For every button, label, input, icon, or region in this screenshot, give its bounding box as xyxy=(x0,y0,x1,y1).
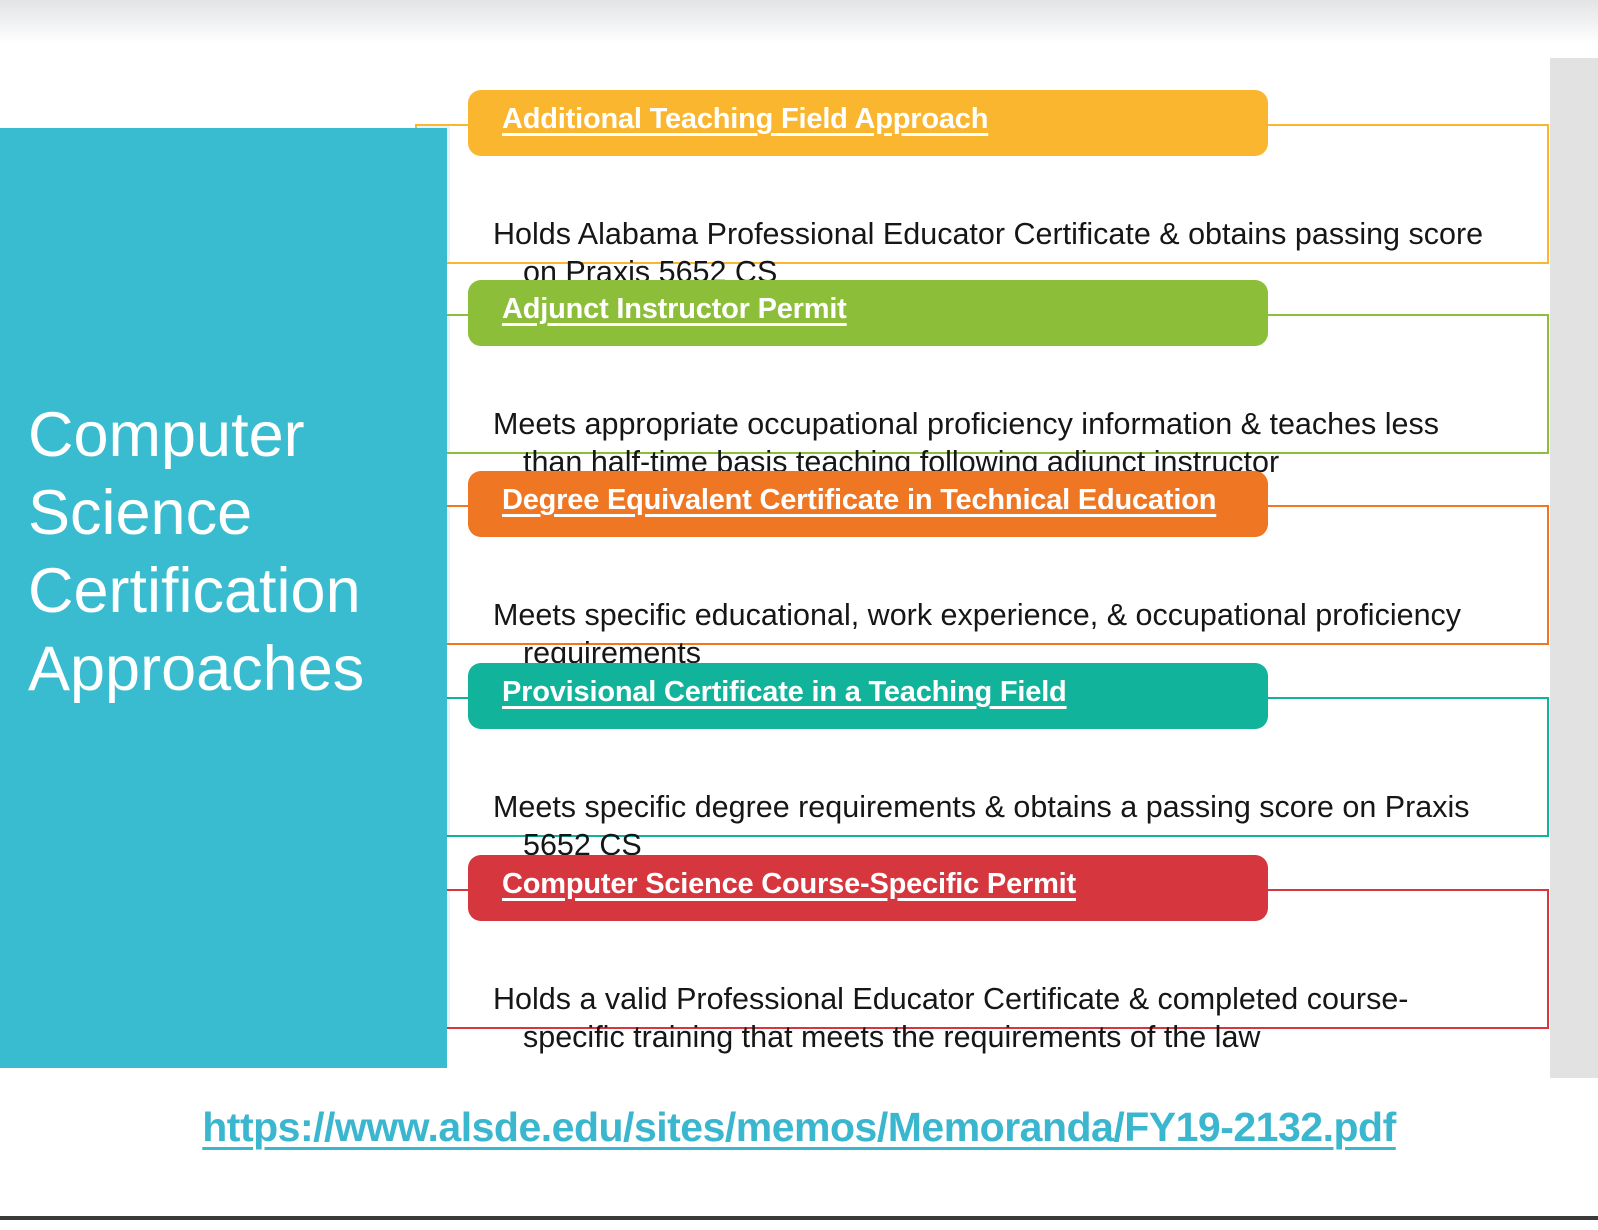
approach-row: Provisional Certificate in a Teaching Fi… xyxy=(415,697,1549,837)
viewer-bottom-rule xyxy=(0,1216,1598,1220)
approach-header-label: Additional Teaching Field Approach xyxy=(502,103,988,136)
approach-header-pill[interactable]: Additional Teaching Field Approach xyxy=(468,90,1268,156)
approach-description: Meets specific degree requirements & obt… xyxy=(493,789,1489,864)
approach-description: Holds a valid Professional Educator Cert… xyxy=(493,981,1489,1056)
approach-description-line: Meets appropriate occupational proficien… xyxy=(493,406,1489,444)
approach-description-line: Holds a valid Professional Educator Cert… xyxy=(493,981,1489,1019)
approach-header-pill[interactable]: Provisional Certificate in a Teaching Fi… xyxy=(468,663,1268,729)
approach-row: Additional Teaching Field ApproachHolds … xyxy=(415,124,1549,264)
approach-description: Meets appropriate occupational proficien… xyxy=(493,406,1489,481)
approach-header-label: Computer Science Course-Specific Permit xyxy=(502,868,1076,901)
slide-right-gutter xyxy=(1550,58,1598,1078)
slide-canvas: Computer Science Certification Approache… xyxy=(0,0,1598,1230)
approach-header-pill[interactable]: Degree Equivalent Certificate in Technic… xyxy=(468,471,1268,537)
approach-row: Computer Science Course-Specific PermitH… xyxy=(415,889,1549,1029)
page-title: Computer Science Certification Approache… xyxy=(28,396,428,708)
title-panel: Computer Science Certification Approache… xyxy=(0,128,447,1068)
approach-description-line: specific training that meets the require… xyxy=(493,1019,1489,1057)
approach-header-label: Degree Equivalent Certificate in Technic… xyxy=(502,484,1216,517)
approach-row: Degree Equivalent Certificate in Technic… xyxy=(415,505,1549,645)
viewer-top-shade xyxy=(0,0,1598,44)
approach-header-pill[interactable]: Computer Science Course-Specific Permit xyxy=(468,855,1268,921)
approach-description-line: Meets specific degree requirements & obt… xyxy=(493,789,1489,827)
source-link-wrap: https://www.alsde.edu/sites/memos/Memora… xyxy=(0,1104,1598,1151)
approach-description-line: Meets specific educational, work experie… xyxy=(493,597,1489,635)
source-url-link[interactable]: https://www.alsde.edu/sites/memos/Memora… xyxy=(202,1104,1395,1150)
approach-header-pill[interactable]: Adjunct Instructor Permit xyxy=(468,280,1268,346)
approach-header-label: Adjunct Instructor Permit xyxy=(502,293,847,326)
approach-header-label: Provisional Certificate in a Teaching Fi… xyxy=(502,676,1067,709)
approach-description-line: Holds Alabama Professional Educator Cert… xyxy=(493,216,1489,254)
approach-row: Adjunct Instructor PermitMeets appropria… xyxy=(415,314,1549,454)
approach-description: Meets specific educational, work experie… xyxy=(493,597,1489,672)
